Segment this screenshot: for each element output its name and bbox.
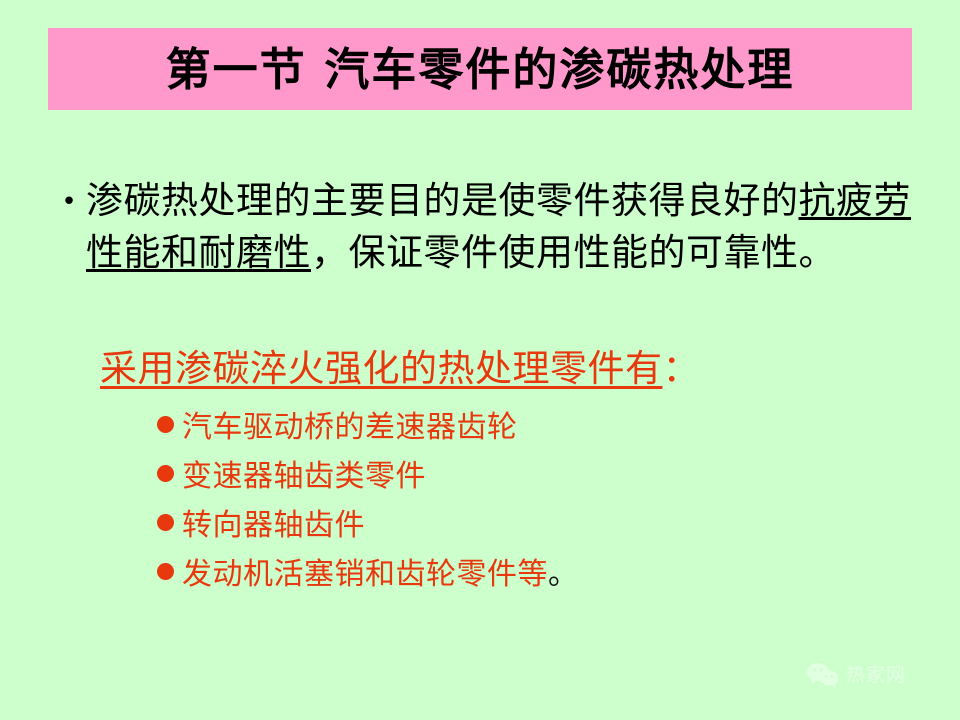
list-item-label: 转向器轴齿件 bbox=[182, 506, 365, 546]
paragraph-part-before: 渗碳热处理的主要目的是使零件获得良好的 bbox=[86, 179, 799, 222]
page-title: 第一节 汽车零件的渗碳热处理 bbox=[166, 47, 795, 92]
paragraph-part-after: ，保证零件使用性能的可靠性。 bbox=[311, 231, 836, 274]
list-item: 发动机活塞销和齿轮零件等 。 bbox=[157, 555, 857, 604]
list-item-label: 变速器轴齿类零件 bbox=[182, 457, 426, 497]
list-item-label: 发动机活塞销和齿轮零件等 bbox=[182, 555, 548, 595]
paragraph-bullet-row: • 渗碳热处理的主要目的是使零件获得良好的抗疲劳性能和耐磨性，保证零件使用性能的… bbox=[52, 175, 924, 279]
list-item-label: 汽车驱动桥的差速器齿轮 bbox=[182, 408, 518, 448]
red-subheading-colon: ： bbox=[663, 347, 701, 390]
filled-circle-bullet-icon bbox=[157, 465, 174, 482]
watermark: 热家网 bbox=[806, 662, 906, 688]
bullet-dot-icon: • bbox=[52, 175, 86, 229]
wechat-icon bbox=[806, 662, 840, 688]
red-subheading: 采用渗碳淬火强化的热处理零件有： bbox=[100, 345, 700, 393]
slide-canvas: 第一节 汽车零件的渗碳热处理 • 渗碳热处理的主要目的是使零件获得良好的抗疲劳性… bbox=[0, 0, 960, 720]
paragraph-text: 渗碳热处理的主要目的是使零件获得良好的抗疲劳性能和耐磨性，保证零件使用性能的可靠… bbox=[86, 175, 924, 279]
watermark-label: 热家网 bbox=[846, 664, 906, 686]
filled-circle-bullet-icon bbox=[157, 514, 174, 531]
filled-circle-bullet-icon bbox=[157, 416, 174, 433]
slide-title-band: 第一节 汽车零件的渗碳热处理 bbox=[48, 28, 912, 110]
list-item: 汽车驱动桥的差速器齿轮 bbox=[157, 408, 857, 457]
filled-circle-bullet-icon bbox=[157, 563, 174, 580]
red-subheading-underlined-text: 采用渗碳淬火强化的热处理零件有 bbox=[100, 347, 663, 390]
list-item: 转向器轴齿件 bbox=[157, 506, 857, 555]
list-item: 变速器轴齿类零件 bbox=[157, 457, 857, 506]
body-paragraph-block: • 渗碳热处理的主要目的是使零件获得良好的抗疲劳性能和耐磨性，保证零件使用性能的… bbox=[52, 175, 924, 279]
list-item-tail: 。 bbox=[548, 555, 578, 595]
red-bullet-list: 汽车驱动桥的差速器齿轮 变速器轴齿类零件 转向器轴齿件 发动机活塞销和齿轮零件等… bbox=[157, 408, 857, 604]
